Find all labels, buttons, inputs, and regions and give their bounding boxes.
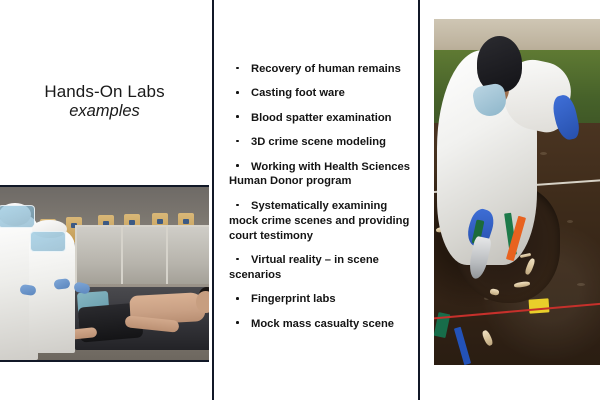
list-item: 3D crime scene modeling bbox=[229, 135, 415, 150]
page-title: Hands-On Labs bbox=[0, 82, 209, 102]
list-item: Recovery of human remains bbox=[229, 62, 415, 77]
list-item-label: Working with Health Sciences Human Donor… bbox=[229, 161, 410, 188]
left-panel: Hands-On Labs examples bbox=[0, 0, 209, 400]
list-item: Fingerprint labs bbox=[229, 292, 415, 307]
outdoor-remains-excavation-photo bbox=[434, 19, 600, 365]
list-item: Virtual reality – in scene scenarios bbox=[229, 253, 415, 283]
lab-scene-illustration bbox=[0, 187, 209, 360]
bullet-dot-icon bbox=[236, 204, 239, 207]
list-item: Blood spatter examination bbox=[229, 111, 415, 126]
excavator-cap bbox=[477, 36, 522, 91]
list-item-label: Recovery of human remains bbox=[251, 63, 401, 75]
bullet-dot-icon bbox=[236, 297, 239, 300]
face-shield bbox=[30, 231, 66, 252]
mannequin-head bbox=[196, 291, 209, 313]
student-in-ppe bbox=[29, 229, 75, 354]
list-item-label: Casting foot ware bbox=[251, 87, 345, 99]
mock-crime-scene-lab-photo bbox=[0, 185, 209, 362]
list-item: Casting foot ware bbox=[229, 86, 415, 101]
list-item-label: Blood spatter examination bbox=[251, 112, 392, 124]
bullet-dot-icon bbox=[236, 164, 239, 167]
yellow-evidence-label bbox=[528, 299, 549, 314]
left-divider-rule bbox=[212, 0, 214, 400]
bullet-dot-icon bbox=[236, 258, 239, 261]
list-item-label: Fingerprint labs bbox=[251, 293, 336, 305]
list-item-label: 3D crime scene modeling bbox=[251, 136, 386, 148]
face-shield bbox=[0, 205, 35, 229]
bullet-dot-icon bbox=[236, 140, 239, 143]
list-item: Working with Health Sciences Human Donor… bbox=[229, 160, 415, 190]
title-block: Hands-On Labs examples bbox=[0, 82, 209, 122]
list-item: Systematically examining mock crime scen… bbox=[229, 199, 415, 244]
center-panel: Recovery of human remains Casting foot w… bbox=[215, 0, 418, 400]
list-item-label: Mock mass casualty scene bbox=[251, 318, 394, 330]
soil-speck bbox=[540, 152, 547, 155]
right-divider-rule bbox=[418, 0, 420, 400]
list-item-label: Virtual reality – in scene scenarios bbox=[229, 254, 379, 281]
presentation-slide: Hands-On Labs examples bbox=[0, 0, 600, 400]
right-panel bbox=[421, 0, 600, 400]
list-item: Mock mass casualty scene bbox=[229, 317, 415, 332]
list-item-label: Systematically examining mock crime scen… bbox=[229, 200, 409, 242]
bullet-dot-icon bbox=[236, 91, 239, 94]
soil-speck bbox=[577, 283, 585, 286]
bullet-dot-icon bbox=[236, 67, 239, 70]
bullet-dot-icon bbox=[236, 115, 239, 118]
lab-examples-list: Recovery of human remains Casting foot w… bbox=[229, 62, 415, 341]
excavation-scene-illustration bbox=[434, 19, 600, 365]
page-subtitle: examples bbox=[0, 102, 209, 121]
soil-speck bbox=[567, 220, 573, 223]
bullet-dot-icon bbox=[236, 321, 239, 324]
